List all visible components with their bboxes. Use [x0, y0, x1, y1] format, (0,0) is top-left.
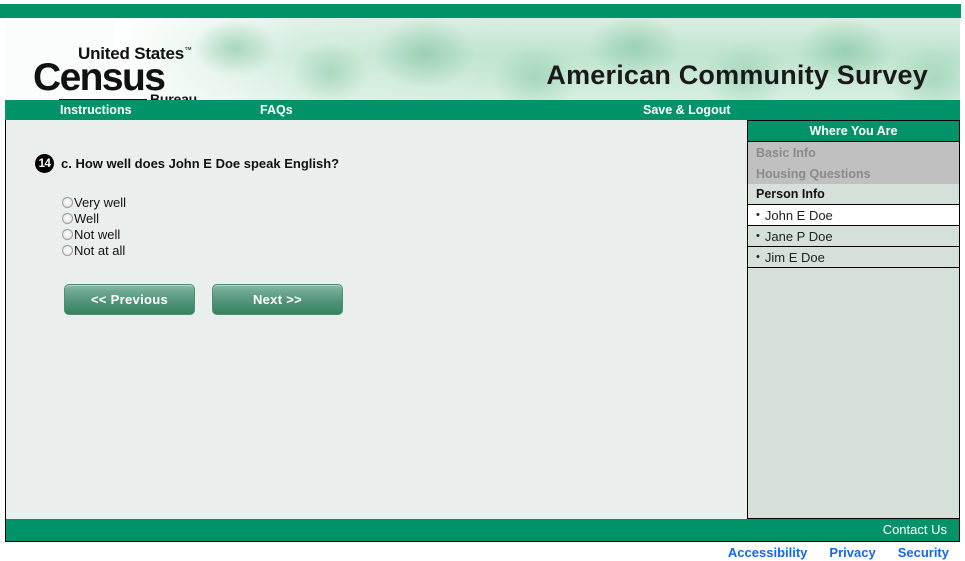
page-title: American Community Survey	[546, 60, 928, 91]
footer-link-accessibility[interactable]: Accessibility	[728, 545, 808, 560]
sidebar-item-jane-p-doe[interactable]: • Jane P Doe	[748, 226, 959, 247]
option-label: Very well	[74, 195, 126, 210]
sidebar-item-john-e-doe[interactable]: • John E Doe	[748, 205, 959, 226]
question-text: c. How well does John E Doe speak Englis…	[61, 156, 339, 171]
question-heading: 14 c. How well does John E Doe speak Eng…	[35, 154, 339, 173]
sidebar-item-label: John E Doe	[765, 208, 833, 223]
answer-options-group[interactable]: Very well Well Not well Not at all	[62, 194, 126, 258]
radio-icon[interactable]	[62, 213, 73, 224]
previous-button[interactable]: << Previous	[64, 284, 195, 315]
logo-bureau-word: Bureau	[150, 91, 197, 100]
nav-item-faqs[interactable]: FAQs	[260, 103, 293, 117]
question-number-badge: 14	[35, 154, 54, 173]
option-not-well[interactable]: Not well	[62, 226, 126, 242]
header-banner: American Community Survey United States™…	[5, 18, 960, 100]
next-button[interactable]: Next >>	[212, 284, 343, 315]
sidebar-title: Where You Are	[748, 121, 959, 142]
nav-item-instructions[interactable]: Instructions	[60, 103, 132, 117]
census-bureau-logo: United States™ Census Bureau	[33, 44, 193, 100]
sidebar-item-housing-questions: Housing Questions	[748, 163, 959, 184]
footer-bar: Contact Us	[5, 519, 960, 542]
option-not-at-all[interactable]: Not at all	[62, 242, 126, 258]
contact-us-link[interactable]: Contact Us	[883, 522, 947, 537]
sidebar-item-label: Person Info	[756, 187, 825, 201]
footer-link-security[interactable]: Security	[898, 545, 949, 560]
logo-census-word: Census	[33, 58, 164, 97]
where-you-are-sidebar: Where You Are Basic Info Housing Questio…	[748, 120, 960, 519]
bullet-icon: •	[756, 230, 760, 242]
option-label: Not at all	[74, 243, 125, 258]
main-content-panel	[5, 120, 748, 519]
trademark-icon: ™	[184, 45, 192, 54]
sidebar-item-label: Jane P Doe	[765, 229, 833, 244]
radio-icon[interactable]	[62, 229, 73, 240]
content-left-border	[5, 120, 6, 519]
top-green-strip	[0, 4, 961, 18]
main-nav-bar: Instructions FAQs Save & Logout	[5, 100, 960, 120]
sidebar-item-basic-info: Basic Info	[748, 142, 959, 163]
footer-links: Accessibility Privacy Security	[728, 545, 949, 560]
sidebar-item-label: Basic Info	[756, 146, 816, 160]
sidebar-item-label: Jim E Doe	[765, 250, 825, 265]
nav-item-save-logout[interactable]: Save & Logout	[643, 103, 731, 117]
footer-link-privacy[interactable]: Privacy	[829, 545, 875, 560]
option-well[interactable]: Well	[62, 210, 126, 226]
option-very-well[interactable]: Very well	[62, 194, 126, 210]
acs-survey-page: American Community Survey United States™…	[0, 0, 965, 561]
radio-icon[interactable]	[62, 245, 73, 256]
radio-icon[interactable]	[62, 197, 73, 208]
option-label: Not well	[74, 227, 120, 242]
sidebar-item-person-info: Person Info	[748, 184, 959, 205]
bullet-icon: •	[756, 209, 760, 221]
bullet-icon: •	[756, 251, 760, 263]
option-label: Well	[74, 211, 99, 226]
sidebar-item-jim-e-doe[interactable]: • Jim E Doe	[748, 247, 959, 268]
sidebar-item-label: Housing Questions	[756, 167, 871, 181]
navigation-buttons: << Previous Next >>	[64, 284, 343, 315]
